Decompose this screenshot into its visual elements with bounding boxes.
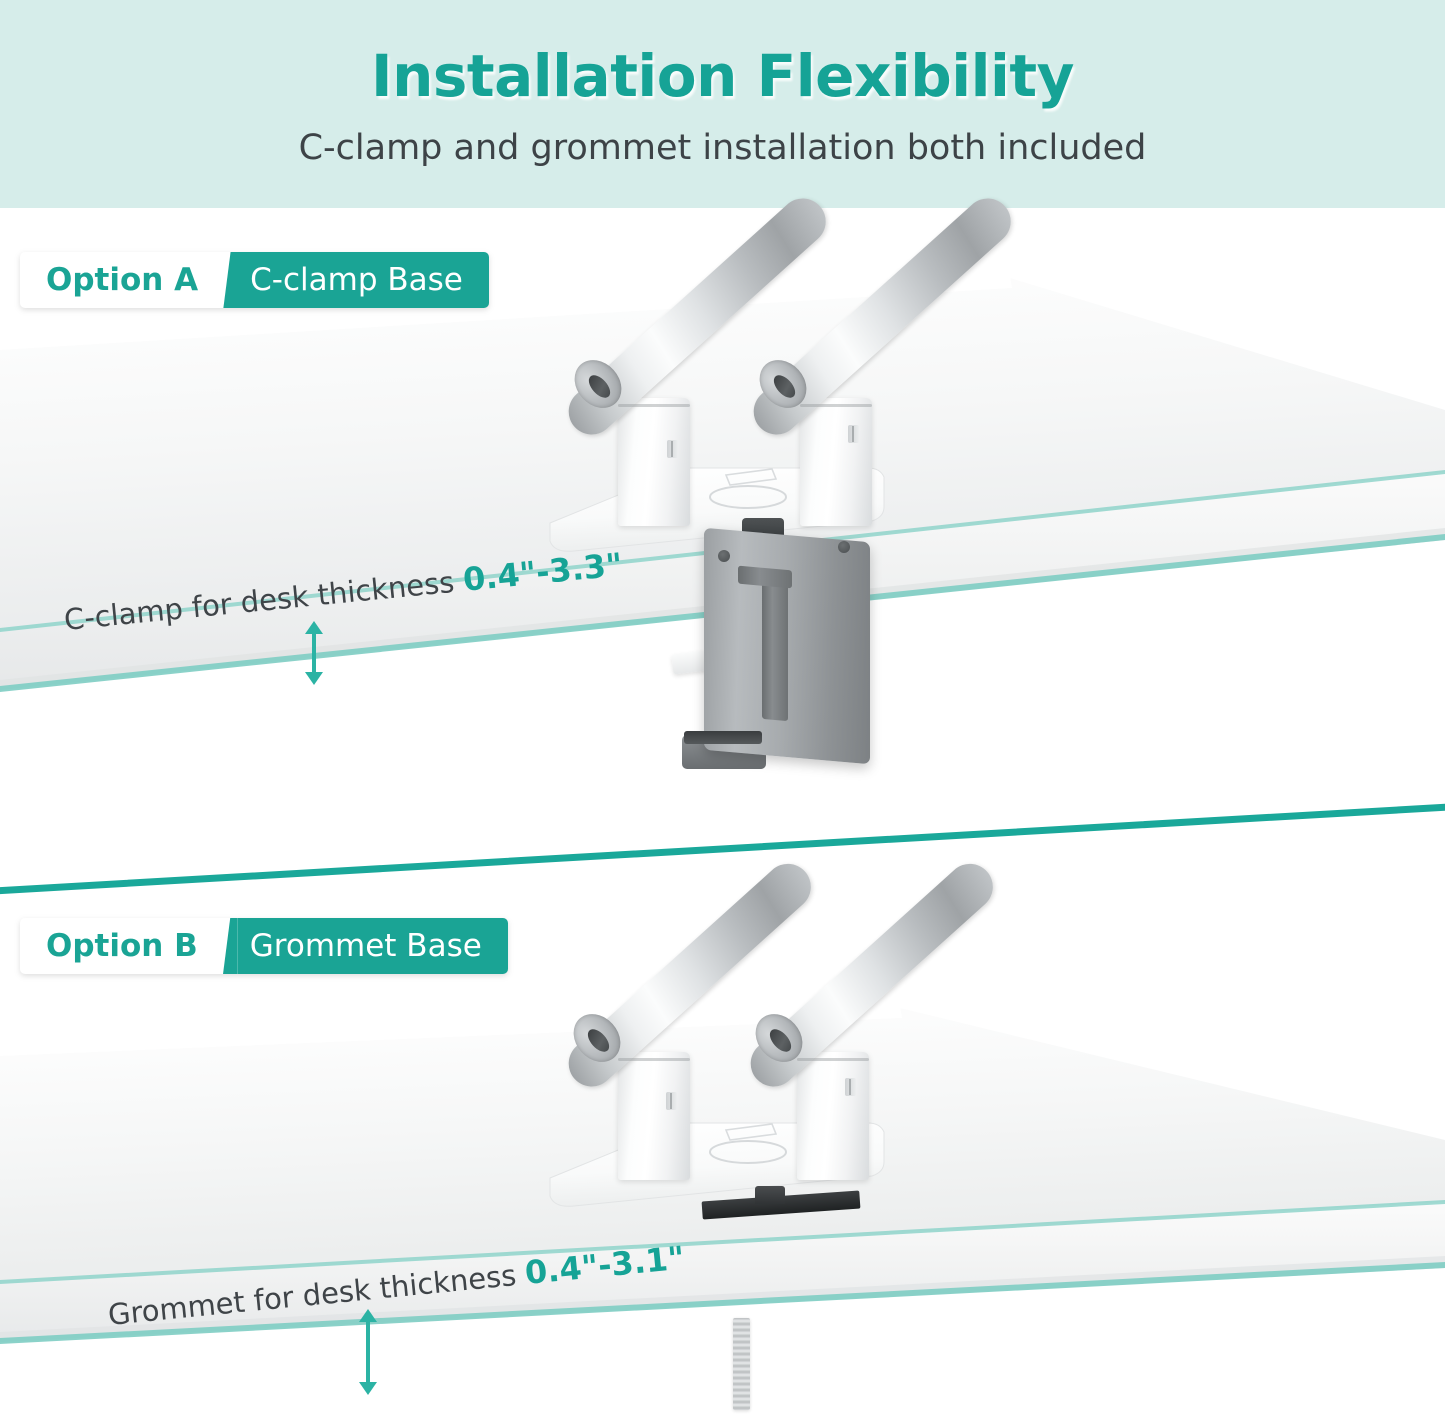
option-a-label: Option A — [20, 252, 220, 308]
option-a-title: C-clamp Base — [238, 252, 489, 308]
arm-post-right-a — [800, 398, 872, 526]
desk-thickness-arrow-b — [366, 1320, 370, 1384]
arm-post-left-b — [618, 1052, 690, 1180]
post-screw-left-a — [667, 440, 678, 458]
page-subtitle: C-clamp and grommet installation both in… — [0, 128, 1445, 168]
post-ring-right-a — [800, 404, 872, 407]
header-banner: Installation Flexibility C-clamp and gro… — [0, 0, 1445, 208]
grommet-bar-nub — [755, 1186, 785, 1204]
option-a-badge: Option A C-clamp Base — [20, 252, 489, 308]
post-screw-left-b — [666, 1092, 677, 1110]
c-clamp-center-slot — [762, 569, 788, 721]
post-screw-right-a — [848, 425, 859, 443]
arm-post-left-a — [618, 398, 690, 526]
option-b-title: Grommet Base — [238, 918, 508, 974]
c-clamp-foot-pad — [684, 731, 762, 744]
post-ring-right-b — [797, 1058, 869, 1061]
badge-slash-b — [220, 918, 238, 974]
option-b-label: Option B — [20, 918, 220, 974]
infographic-page: Installation Flexibility C-clamp and gro… — [0, 0, 1445, 1416]
option-b-badge: Option B Grommet Base — [20, 918, 508, 974]
post-screw-right-b — [845, 1078, 856, 1096]
badge-slash-a — [220, 252, 238, 308]
arm-post-right-b — [797, 1052, 869, 1180]
page-title: Installation Flexibility — [0, 42, 1445, 110]
c-clamp-screw-hole-right — [838, 541, 850, 553]
post-ring-left-b — [618, 1058, 690, 1061]
post-ring-left-a — [618, 404, 690, 407]
section-divider — [0, 802, 1445, 895]
c-clamp-screw-hole-left — [718, 550, 730, 562]
desk-thickness-arrow-a — [312, 632, 316, 674]
